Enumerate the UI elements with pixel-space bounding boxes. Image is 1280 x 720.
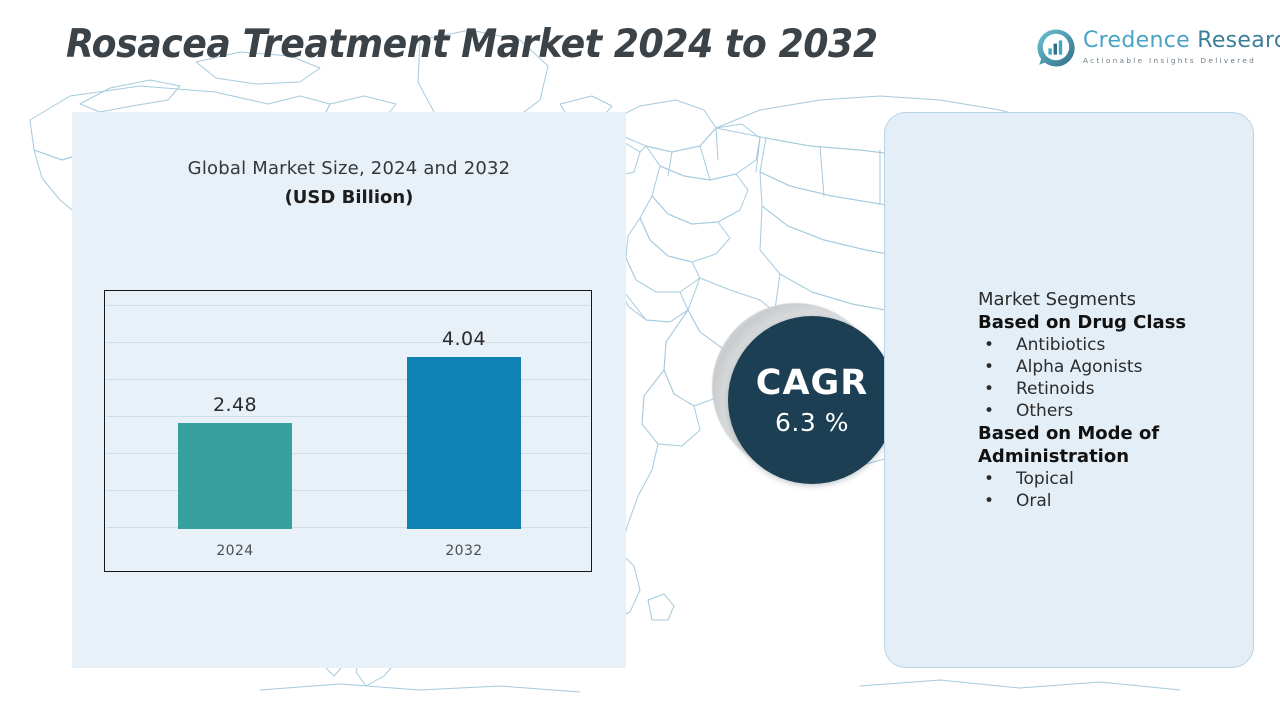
segment-item-label: Retinoids — [1016, 378, 1094, 400]
segment-group-title: Based on Drug Class — [978, 311, 1248, 334]
segment-item-label: Others — [1016, 400, 1073, 422]
chart-bar-2032 — [407, 357, 521, 529]
bar-chart: 2.4820244.042032 — [104, 290, 592, 572]
chart-bar-2024 — [178, 423, 292, 529]
segment-list-item: •Antibiotics — [978, 334, 1248, 356]
chart-heading: Global Market Size, 2024 and 2032 (USD B… — [72, 158, 626, 208]
logo-tagline: Actionable Insights Delivered — [1083, 56, 1280, 65]
cagr-label: CAGR — [756, 366, 868, 401]
bullet-icon: • — [978, 490, 1016, 512]
segment-list-item: •Oral — [978, 490, 1248, 512]
market-segments: Market Segments Based on Drug Class•Anti… — [978, 288, 1248, 512]
brand-logo: Credence Research Actionable Insights De… — [1036, 26, 1252, 72]
logo-name-part2: Research — [1197, 28, 1280, 53]
segments-groups: Based on Drug Class•Antibiotics•Alpha Ag… — [978, 311, 1248, 512]
segment-item-label: Oral — [1016, 490, 1052, 512]
chart-bar-value-2024: 2.48 — [175, 394, 295, 416]
chart-title: Global Market Size, 2024 and 2032 — [72, 158, 626, 179]
chart-subtitle: (USD Billion) — [72, 187, 626, 208]
chart-gridline — [106, 305, 590, 306]
chart-bar-value-2032: 4.04 — [404, 328, 524, 350]
infographic-stage: Rosacea Treatment Market 2024 to 2032 Cr… — [0, 0, 1280, 720]
bullet-icon: • — [978, 378, 1016, 400]
bullet-icon: • — [978, 468, 1016, 490]
logo-text: Credence Research Actionable Insights De… — [1083, 28, 1280, 65]
segments-heading: Market Segments — [978, 288, 1248, 311]
segment-list-item: •Topical — [978, 468, 1248, 490]
bullet-icon: • — [978, 400, 1016, 422]
bar-chart-bubble-icon — [1036, 28, 1076, 68]
segment-list-item: •Retinoids — [978, 378, 1248, 400]
logo-name: Credence Research — [1083, 28, 1280, 53]
cagr-badge: CAGR 6.3 % — [712, 303, 896, 487]
logo-name-part1: Credence — [1083, 28, 1190, 53]
segment-item-label: Topical — [1016, 468, 1074, 490]
chart-plot-area: 2.4820244.042032 — [105, 291, 591, 571]
page-title: Rosacea Treatment Market 2024 to 2032 — [66, 22, 878, 67]
segment-item-label: Alpha Agonists — [1016, 356, 1142, 378]
cagr-value: 6.3 % — [775, 410, 849, 435]
bullet-icon: • — [978, 334, 1016, 356]
cagr-circle: CAGR 6.3 % — [728, 316, 896, 484]
chart-x-label-2032: 2032 — [404, 543, 524, 559]
segment-list-item: •Others — [978, 400, 1248, 422]
segment-group-title: Based on Mode of Administration — [978, 422, 1248, 468]
segment-list-item: •Alpha Agonists — [978, 356, 1248, 378]
bullet-icon: • — [978, 356, 1016, 378]
segment-item-label: Antibiotics — [1016, 334, 1105, 356]
chart-x-label-2024: 2024 — [175, 543, 295, 559]
